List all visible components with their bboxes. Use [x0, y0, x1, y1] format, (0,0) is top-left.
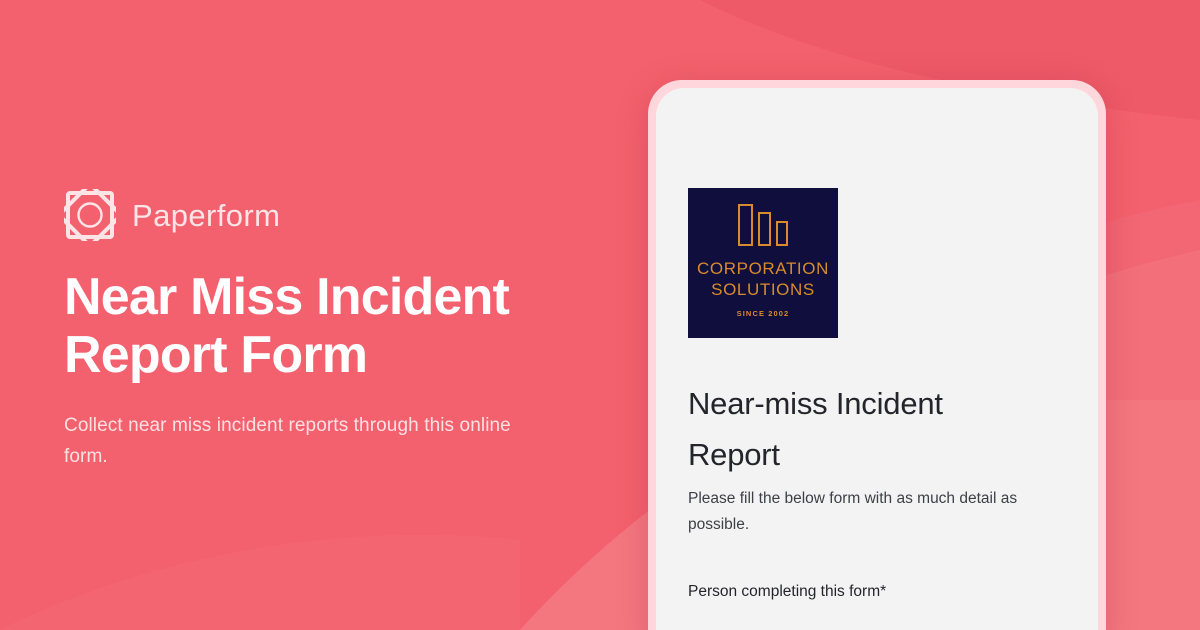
preview-canvas: Paperform Near Miss Incident Report Form… [0, 0, 1200, 630]
hero-section: Paperform Near Miss Incident Report Form… [64, 186, 624, 472]
company-logo-name-line1: CORPORATION [697, 258, 829, 279]
paperform-starburst-icon [64, 189, 116, 241]
company-logo-tagline: SINCE 2002 [737, 309, 790, 318]
form-preview-card[interactable]: CORPORATION SOLUTIONS SINCE 2002 Near-mi… [648, 80, 1106, 630]
field-label: Person completing this form* [688, 582, 1066, 602]
swoosh-bottom-left [0, 535, 520, 630]
card-surface: CORPORATION SOLUTIONS SINCE 2002 Near-mi… [656, 88, 1098, 630]
form-title: Near-miss Incident Report [688, 378, 1018, 480]
brand-name: Paperform [132, 200, 280, 231]
card-content: CORPORATION SOLUTIONS SINCE 2002 Near-mi… [656, 88, 1098, 630]
company-logo-name: CORPORATION SOLUTIONS [697, 258, 829, 300]
page-subtitle: Collect near miss incident reports throu… [64, 410, 544, 472]
form-description: Please fill the below form with as much … [688, 486, 1033, 538]
brand-lockup: Paperform [64, 186, 624, 244]
company-logo: CORPORATION SOLUTIONS SINCE 2002 [688, 188, 838, 338]
company-logo-name-line2: SOLUTIONS [697, 279, 829, 300]
bar-chart-icon [738, 202, 788, 246]
form-field-person-completing: Person completing this form* [688, 582, 1066, 630]
person-completing-input[interactable] [688, 625, 1066, 630]
page-title: Near Miss Incident Report Form [64, 268, 534, 384]
